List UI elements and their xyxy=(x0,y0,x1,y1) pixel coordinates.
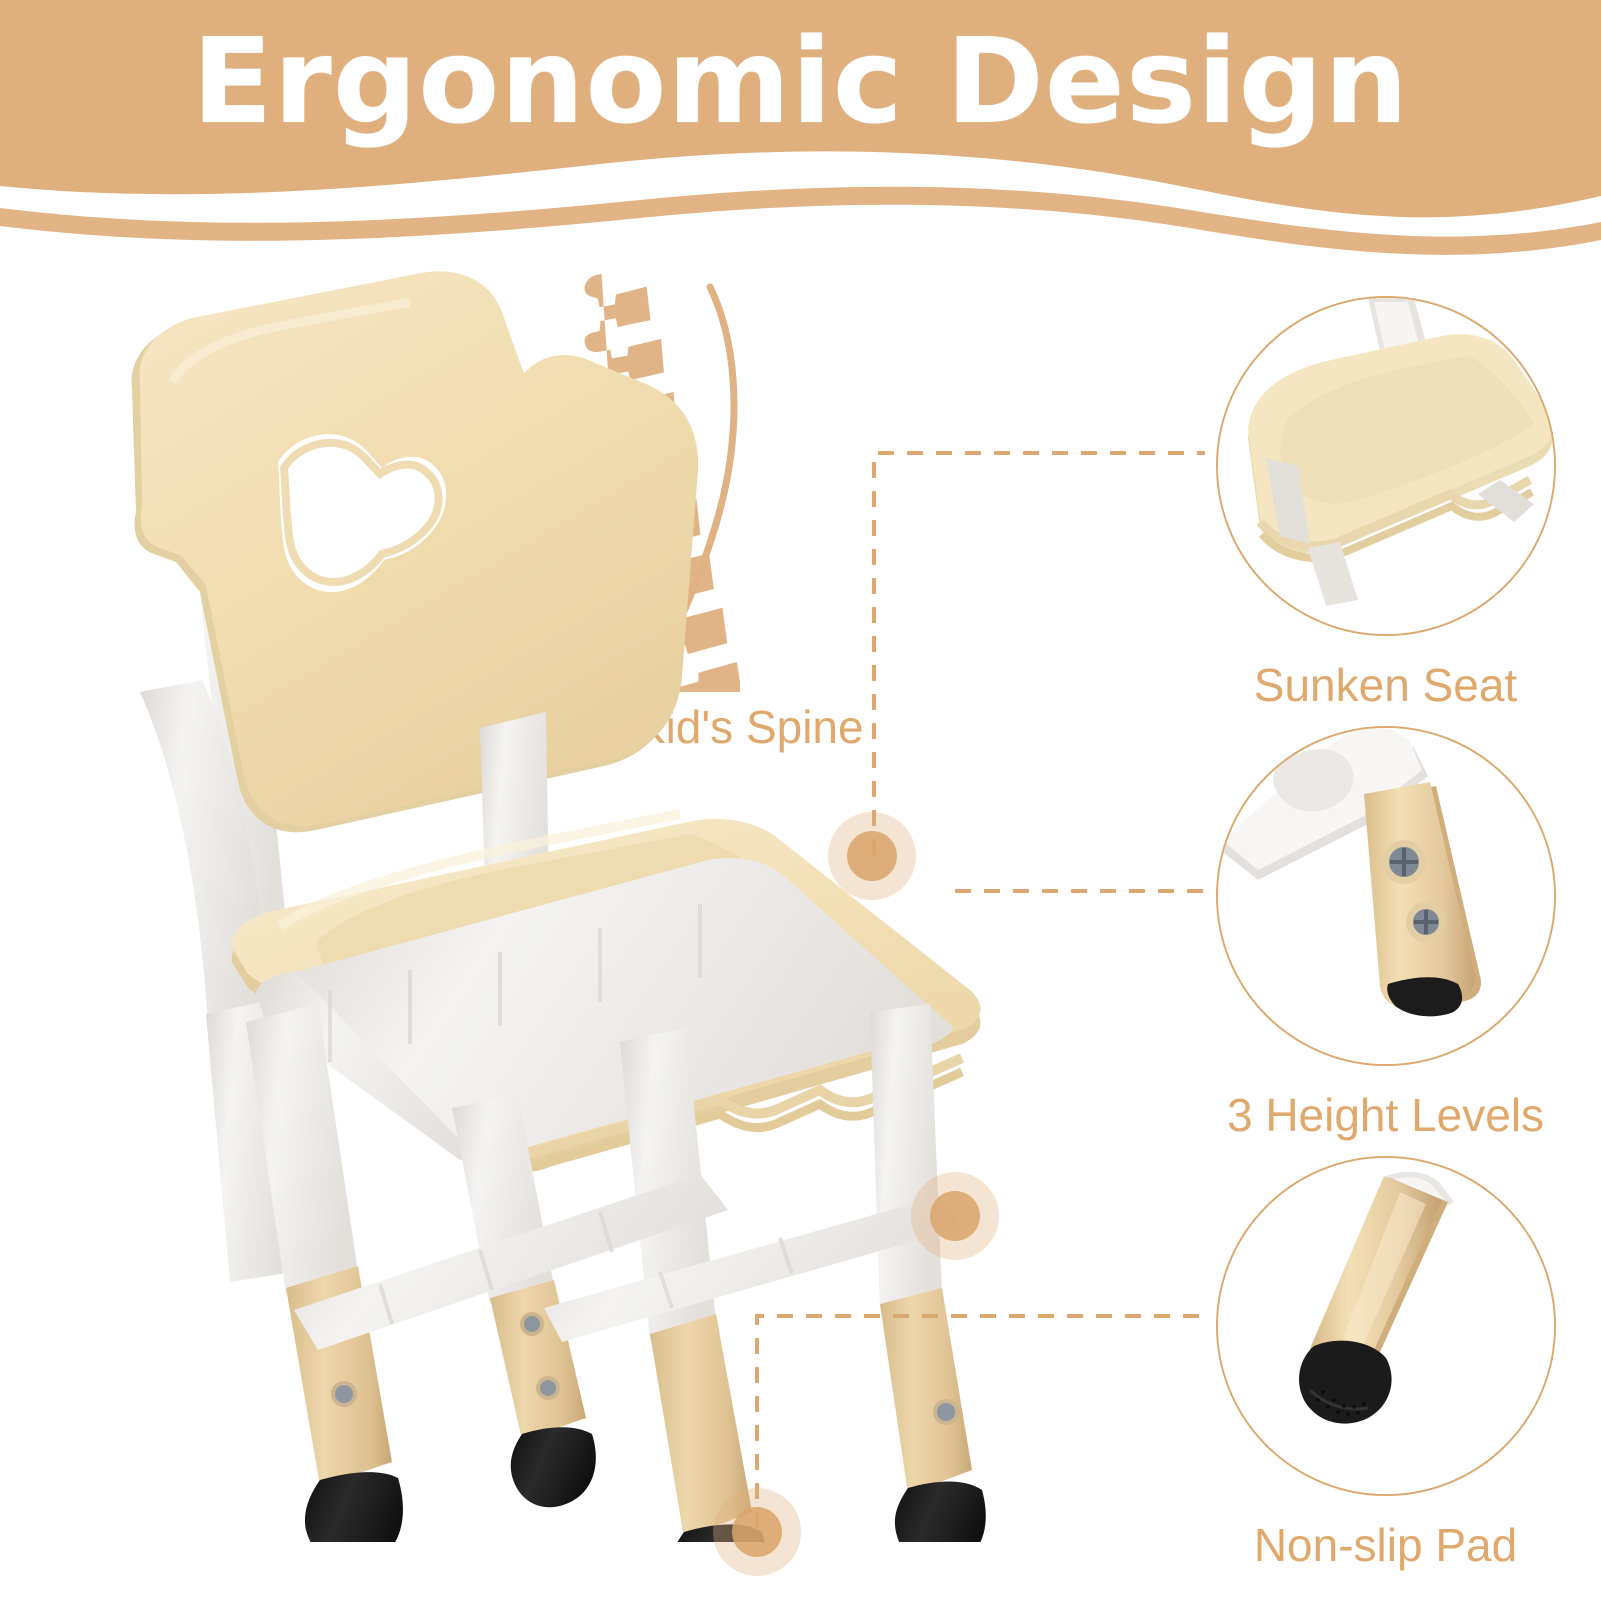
chair-stretchers xyxy=(294,1174,960,1350)
hotspot-marker-pad[interactable] xyxy=(713,1488,801,1576)
callout-height-levels[interactable]: 3 Height Levels xyxy=(1170,726,1601,1142)
hotspot-core xyxy=(930,1191,980,1241)
product-feature-infographic: Ergonomic Design Protect Kid's Spine xyxy=(0,0,1601,1601)
callout-label: 3 Height Levels xyxy=(1170,1088,1601,1142)
leg-screws-closeup-icon xyxy=(1216,726,1556,1066)
hotspot-marker-leg[interactable] xyxy=(911,1172,999,1260)
hotspot-core xyxy=(847,831,897,881)
hotspot-marker-seat[interactable] xyxy=(828,812,916,900)
hotspot-core xyxy=(732,1507,782,1557)
header-banner: Ergonomic Design xyxy=(0,0,1601,265)
callout-label: Non-slip Pad xyxy=(1170,1518,1601,1572)
callout-nonslip-pad[interactable]: Non-slip Pad xyxy=(1170,1156,1601,1572)
callout-label: Sunken Seat xyxy=(1170,658,1601,712)
page-title: Ergonomic Design xyxy=(0,6,1601,156)
foot-pad-closeup-icon xyxy=(1216,1156,1556,1496)
chair-illustration xyxy=(80,262,1060,1542)
seat-closeup-icon xyxy=(1216,296,1556,636)
callout-sunken-seat[interactable]: Sunken Seat xyxy=(1170,296,1601,712)
chair-leg-far-right xyxy=(870,1004,986,1542)
